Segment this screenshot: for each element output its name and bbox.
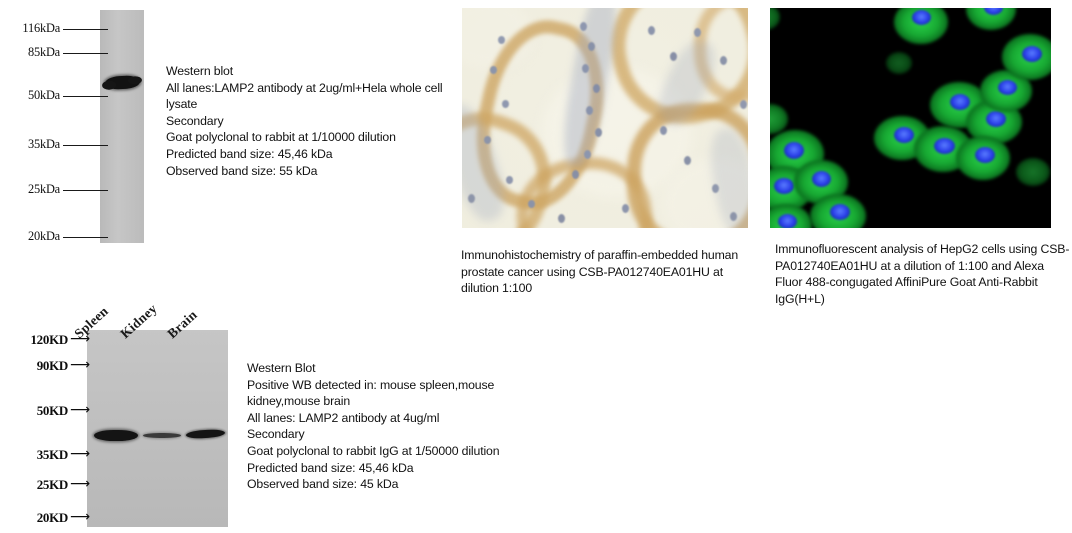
- wb2-label-25: 25KD: [6, 477, 68, 493]
- if-caption: Immunofluorescent analysis of HepG2 cell…: [775, 241, 1071, 307]
- ihc-image: [462, 8, 748, 228]
- wb1-gel-lane: [100, 10, 144, 243]
- ihc-overlay: [462, 8, 748, 228]
- if-nuc-3: [986, 111, 1006, 127]
- wb2-gel: [87, 330, 228, 527]
- if-nuc-2: [950, 94, 970, 110]
- if-nuc-14: [778, 214, 797, 228]
- wb2-label-35: 35KD: [6, 447, 68, 463]
- if-nuc-12: [812, 171, 831, 187]
- wb1-description: Western blot All lanes:LAMP2 antibody at…: [166, 63, 456, 179]
- wb2-arrow-90-icon: ⟶: [70, 359, 86, 371]
- if-nuc-13: [830, 204, 850, 220]
- wb1-label-85: 85kDa: [2, 45, 60, 60]
- wb2-label-120: 120KD: [6, 332, 68, 348]
- wb1-label-50: 50kDa: [2, 88, 60, 103]
- wb1-tick-50: [63, 96, 108, 97]
- wb1-label-20: 20kDa: [2, 229, 60, 244]
- if-nuc-1: [912, 10, 931, 25]
- if-nuc-7: [894, 127, 914, 143]
- western-blot-hela-panel: 116kDa 85kDa 50kDa 35kDa 25kDa 20kDa: [0, 0, 160, 250]
- if-cyto-17: [1016, 158, 1050, 186]
- wb2-arrow-50-icon: ⟶: [70, 404, 86, 416]
- ihc-caption: Immunohistochemistry of paraffin-embedde…: [461, 247, 753, 297]
- if-image: [770, 8, 1051, 228]
- if-cyto-16: [770, 8, 780, 30]
- wb2-arrow-120-icon: ⟶: [70, 333, 86, 345]
- if-cyto-18: [886, 52, 912, 74]
- if-nuc-4: [998, 80, 1017, 95]
- if-nuc-11: [774, 178, 794, 194]
- wb2-label-50: 50KD: [6, 403, 68, 419]
- if-nuc-10: [784, 142, 804, 159]
- wb2-label-20: 20KD: [6, 510, 68, 526]
- wb2-label-90: 90KD: [6, 358, 68, 374]
- wb2-arrow-35-icon: ⟶: [70, 448, 86, 460]
- if-cyto-15: [770, 104, 788, 134]
- figure-root: 116kDa 85kDa 50kDa 35kDa 25kDa 20kDa Wes…: [0, 0, 1072, 533]
- wb2-description: Western Blot Positive WB detected in: mo…: [247, 360, 537, 493]
- wb1-tick-85: [63, 53, 108, 54]
- if-nuc-8: [934, 138, 955, 154]
- wb2-band-spleen: [94, 430, 138, 441]
- if-nuc-5: [1022, 46, 1042, 62]
- western-blot-tissues-panel: Spleen Kidney Brain 120KD ⟶ 90KD ⟶ 50KD …: [0, 280, 240, 533]
- wb2-band-kidney: [143, 433, 181, 438]
- wb1-label-25: 25kDa: [2, 182, 60, 197]
- wb2-arrow-25-icon: ⟶: [70, 478, 86, 490]
- wb1-tick-116: [63, 29, 108, 30]
- wb1-tick-20: [63, 237, 108, 238]
- wb2-arrow-20-icon: ⟶: [70, 511, 86, 523]
- wb1-label-116: 116kDa: [2, 21, 60, 36]
- if-nuc-9: [975, 147, 995, 163]
- wb1-label-35: 35kDa: [2, 137, 60, 152]
- wb1-tick-25: [63, 190, 108, 191]
- wb1-tick-35: [63, 145, 108, 146]
